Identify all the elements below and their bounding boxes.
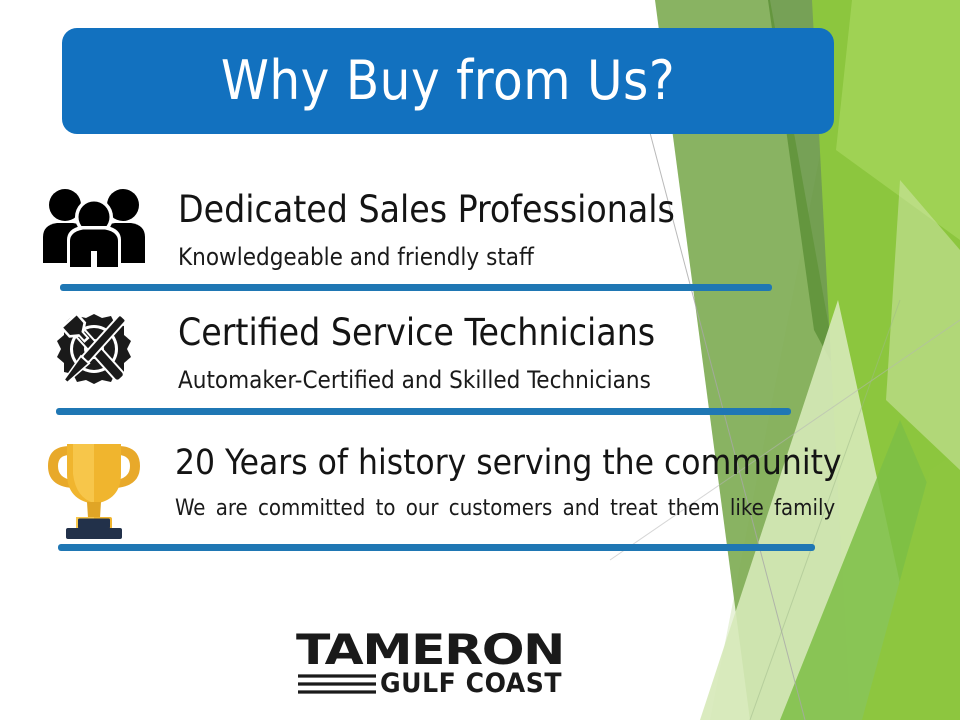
section-divider	[60, 284, 772, 291]
decor-shape-bright-lower	[862, 450, 960, 720]
logo-speed-lines	[298, 676, 376, 692]
slide-canvas: Why Buy from Us? Dedicated Sales Profess…	[0, 0, 960, 720]
tameron-gulf-coast-logo: TAMERON GULF COAST	[296, 628, 564, 698]
decor-shape-bright	[812, 0, 960, 720]
logo-secondary-text: GULF COAST	[380, 668, 562, 698]
feature-text-block: Dedicated Sales Professionals Knowledgea…	[178, 191, 675, 269]
decor-shape-overlay	[886, 180, 960, 470]
feature-text-block: Certified Service Technicians Automaker-…	[178, 314, 655, 392]
section-divider	[56, 408, 791, 415]
feature-subtext: We are committed to our customers and tr…	[175, 498, 842, 520]
feature-heading: Dedicated Sales Professionals	[178, 191, 675, 228]
feature-text-block: 20 Years of history serving the communit…	[175, 446, 842, 520]
feature-heading: Certified Service Technicians	[178, 314, 655, 351]
wrench-gear-icon	[40, 308, 148, 394]
decor-hairline-2	[610, 320, 960, 560]
page-title: Why Buy from Us?	[221, 54, 675, 108]
feature-heading: 20 Years of history serving the communit…	[175, 446, 842, 481]
people-group-icon	[40, 185, 148, 267]
section-divider	[58, 544, 815, 551]
trophy-icon	[40, 432, 148, 540]
feature-subtext: Knowledgeable and friendly staff	[178, 245, 675, 269]
title-banner: Why Buy from Us?	[62, 28, 834, 134]
decor-shape-light	[836, 0, 960, 240]
feature-subtext: Automaker-Certified and Skilled Technici…	[178, 368, 655, 392]
